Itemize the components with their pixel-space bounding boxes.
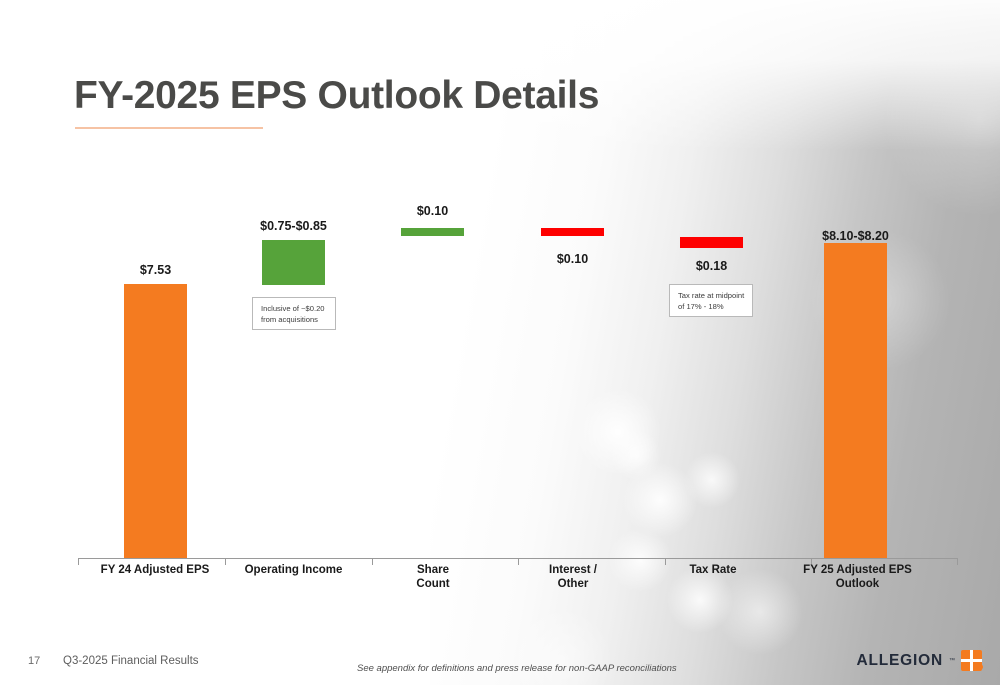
category-label-fy24-adjusted-eps: FY 24 Adjusted EPS <box>80 563 230 577</box>
category-label-interest-other: Interest / Other <box>513 563 633 591</box>
bar-fy24-adjusted-eps <box>124 284 187 558</box>
allegion-logo: ALLEGION ™ <box>857 650 982 671</box>
allegion-mark-icon <box>961 650 982 671</box>
allegion-wordmark: ALLEGION <box>857 652 943 670</box>
axis-tick <box>78 558 79 565</box>
annotation-operating-income: Inclusive of ~$0.20 from acquisitions <box>252 297 336 330</box>
allegion-mark-dot-icon <box>977 664 983 670</box>
bar-fy25-adjusted-eps-outlook <box>824 243 887 558</box>
bar-operating-income <box>262 240 325 285</box>
annotation-tax-rate: Tax rate at midpoint of 17% - 18% <box>669 284 753 317</box>
deck-name: Q3-2025 Financial Results <box>63 655 199 667</box>
page-number: 17 <box>28 655 40 667</box>
bar-share-count <box>401 228 464 236</box>
bar-value-label-fy24-adjusted-eps: $7.53 <box>108 263 203 277</box>
bar-value-label-operating-income: $0.75-$0.85 <box>246 219 341 233</box>
category-label-tax-rate: Tax Rate <box>653 563 773 577</box>
category-label-fy25-adjusted-eps-outlook: FY 25 Adjusted EPS Outlook <box>780 563 935 591</box>
category-label-operating-income: Operating Income <box>226 563 361 577</box>
slide-canvas: FY-2025 EPS Outlook Details $7.53 $0.75-… <box>0 0 1000 685</box>
bar-tax-rate <box>680 237 743 248</box>
bar-value-label-interest-other: $0.10 <box>525 252 620 266</box>
bar-interest-other <box>541 228 604 236</box>
bar-value-label-share-count: $0.10 <box>385 204 480 218</box>
waterfall-chart: $7.53 $0.75-$0.85 Inclusive of ~$0.20 fr… <box>0 0 1000 685</box>
category-label-share-count: Share Count <box>373 563 493 591</box>
axis-tick <box>957 558 958 565</box>
trademark-symbol: ™ <box>949 658 955 664</box>
bar-value-label-fy25-adjusted-eps-outlook: $8.10-$8.20 <box>808 229 903 243</box>
footnote: See appendix for definitions and press r… <box>357 663 677 674</box>
bar-value-label-tax-rate: $0.18 <box>664 259 759 273</box>
